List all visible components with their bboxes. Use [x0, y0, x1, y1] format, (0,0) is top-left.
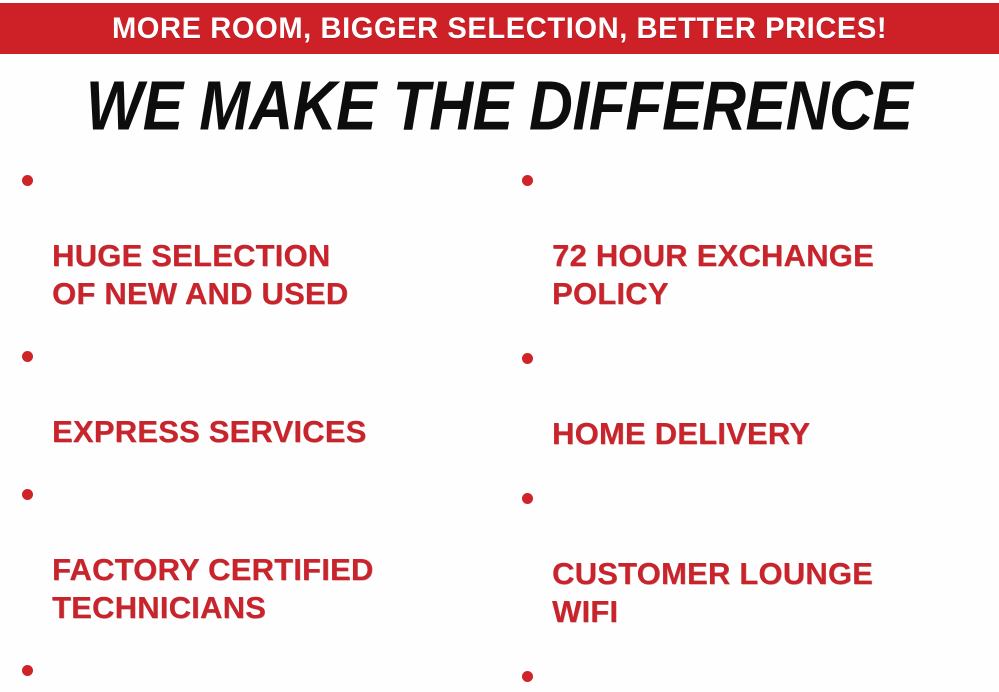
benefits-list-right: 72 HOUR EXCHANGE POLICY HOME DELIVERY CU… — [514, 161, 999, 692]
list-item-label: FACTORY CERTIFIED TECHNICIANS — [52, 552, 373, 625]
benefits-column-right: 72 HOUR EXCHANGE POLICY HOME DELIVERY CU… — [500, 155, 999, 692]
benefits-column-left: HUGE SELECTION OF NEW AND USED EXPRESS S… — [0, 155, 500, 692]
list-item: MILITARY DISCOUNTS — [514, 657, 999, 692]
promo-banner: MORE ROOM, BIGGER SELECTION, BETTER PRIC… — [0, 3, 999, 54]
list-item-label: EXPRESS SERVICES — [52, 414, 366, 449]
benefits-list-left: HUGE SELECTION OF NEW AND USED EXPRESS S… — [14, 161, 500, 692]
list-item: COMPLIMENTARY LOANER CARS — [14, 651, 500, 692]
bullet-dot-icon — [22, 351, 33, 362]
promo-banner-text: MORE ROOM, BIGGER SELECTION, BETTER PRIC… — [112, 14, 887, 44]
bullet-dot-icon — [22, 665, 33, 676]
list-item-label: HOME DELIVERY — [552, 416, 810, 451]
headline-container: WE MAKE THE DIFFERENCE — [0, 66, 999, 144]
bullet-dot-icon — [522, 671, 533, 682]
list-item-label: HUGE SELECTION OF NEW AND USED — [52, 238, 348, 311]
benefits-columns: HUGE SELECTION OF NEW AND USED EXPRESS S… — [0, 155, 999, 692]
list-item: HUGE SELECTION OF NEW AND USED — [14, 161, 500, 313]
list-item-label: 72 HOUR EXCHANGE POLICY — [552, 238, 874, 311]
list-item: CUSTOMER LOUNGE WIFI — [514, 479, 999, 631]
page-title: WE MAKE THE DIFFERENCE — [86, 69, 912, 141]
list-item-label: CUSTOMER LOUNGE WIFI — [552, 556, 873, 629]
bullet-dot-icon — [522, 353, 533, 364]
list-item: EXPRESS SERVICES — [14, 337, 500, 451]
bullet-dot-icon — [522, 175, 533, 186]
advertisement-poster: MORE ROOM, BIGGER SELECTION, BETTER PRIC… — [0, 0, 999, 692]
list-item: HOME DELIVERY — [514, 339, 999, 453]
bullet-dot-icon — [22, 175, 33, 186]
list-item: FACTORY CERTIFIED TECHNICIANS — [14, 475, 500, 627]
bullet-dot-icon — [522, 493, 533, 504]
list-item: 72 HOUR EXCHANGE POLICY — [514, 161, 999, 313]
bullet-dot-icon — [22, 489, 33, 500]
